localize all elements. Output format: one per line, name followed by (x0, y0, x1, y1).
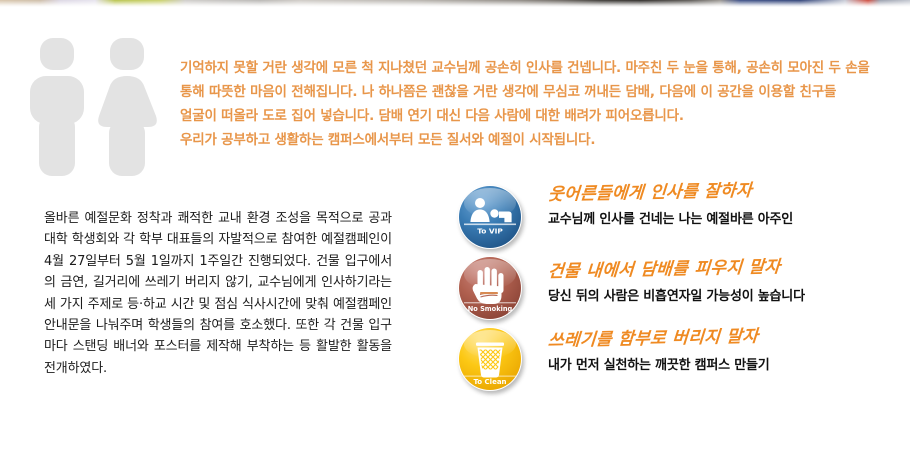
slogan-text-group: 웃어른들에게 인사를 잘하자 교수님께 인사를 건네는 나는 예절바른 아주인 (548, 183, 908, 231)
hero-intro-text: 기억하지 못할 거란 생각에 모른 척 지나쳤던 교수님께 공손히 인사를 건넵… (180, 56, 900, 152)
badge-caption: To VIP (477, 227, 503, 236)
slogan-subtitle: 당신 뒤의 사람은 비흡연자일 가능성이 높습니다 (548, 286, 908, 308)
slogan-title: 웃어른들에게 인사를 잘하자 (547, 175, 909, 207)
slogan-subtitle: 교수님께 인사를 건네는 나는 예절바른 아주인 (548, 209, 908, 231)
badge-caption: To Clean (473, 378, 506, 386)
no-smoking-hand-icon: No Smoking (458, 256, 522, 320)
slogan-subtitle: 내가 먼저 실천하는 깨끗한 캠퍼스 만들기 (548, 355, 908, 377)
slogan-list: To VIP 웃어른들에게 인사를 잘하자 교수님께 인사를 건네는 나는 예절… (452, 183, 910, 395)
slogan-item-no-smoking: No Smoking 건물 내에서 담배를 피우지 말자 당신 뒤의 사람은 비… (452, 254, 910, 324)
bowing-greeting-icon: To VIP (458, 185, 522, 249)
hero-line-3: 얼굴이 떠올라 도로 집어 넣습니다. 담배 연기 대신 다음 사람에 대한 배… (180, 104, 900, 128)
hero-line-4: 우리가 공부하고 생활하는 캠퍼스에서부터 모든 질서와 예절이 시작됩니다. (180, 128, 900, 152)
slogan-title: 쓰레기를 함부로 버리지 말자 (547, 321, 909, 353)
slogan-item-clean: To Clean 쓰레기를 함부로 버리지 말자 내가 먼저 실천하는 깨끗한 … (452, 325, 910, 395)
trash-bin-icon: To Clean (458, 327, 522, 391)
slogan-item-greeting: To VIP 웃어른들에게 인사를 잘하자 교수님께 인사를 건네는 나는 예절… (452, 183, 910, 253)
slogan-text-group: 쓰레기를 함부로 버리지 말자 내가 먼저 실천하는 깨끗한 캠퍼스 만들기 (548, 329, 908, 377)
article-body-text: 올바른 예절문화 정착과 쾌적한 교내 환경 조성을 목적으로 공과대학 학생회… (44, 208, 392, 379)
slogan-title: 건물 내에서 담배를 피우지 말자 (547, 252, 909, 284)
hero-line-2: 통해 따뜻한 마음이 전해집니다. 나 하나쯤은 괜찮을 거란 생각에 무심코 … (180, 80, 900, 104)
slogan-text-group: 건물 내에서 담배를 피우지 말자 당신 뒤의 사람은 비흡연자일 가능성이 높… (548, 260, 908, 308)
article-body: 올바른 예절문화 정착과 쾌적한 교내 환경 조성을 목적으로 공과대학 학생회… (44, 208, 392, 379)
two-people-pictogram-icon (28, 34, 168, 189)
hero-line-1: 기억하지 못할 거란 생각에 모른 척 지나쳤던 교수님께 공손히 인사를 건넵… (180, 56, 900, 80)
badge-caption: No Smoking (468, 305, 513, 313)
top-photo-strip (0, 0, 910, 7)
